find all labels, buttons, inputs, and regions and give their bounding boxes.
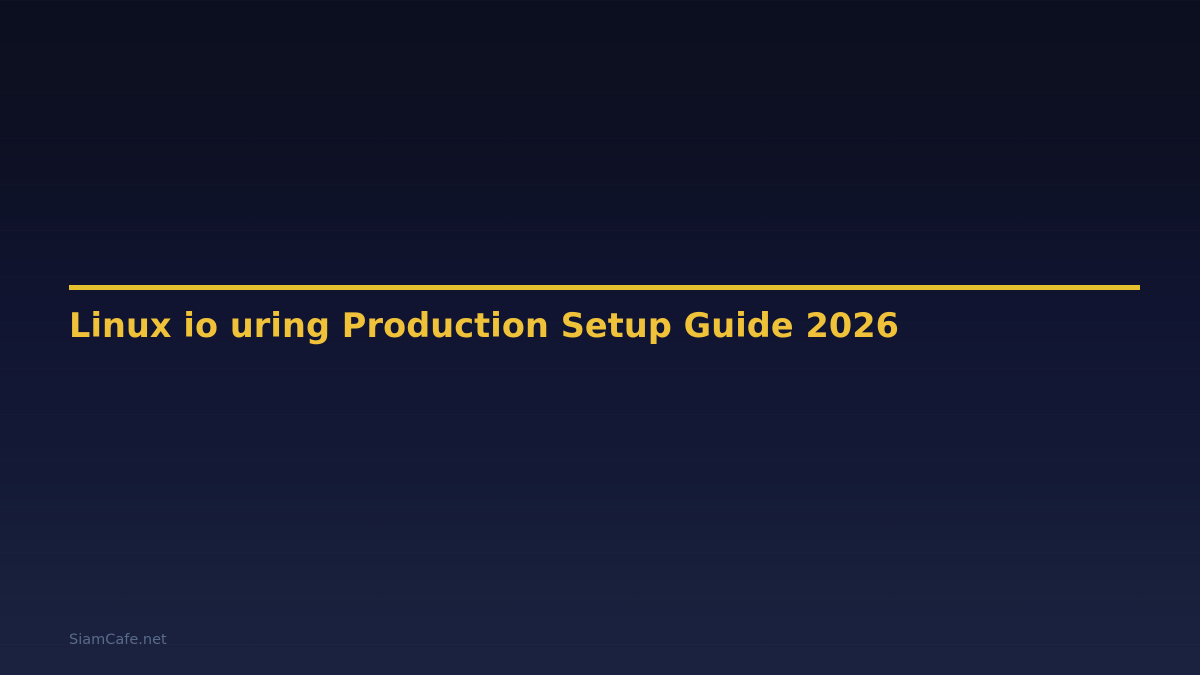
- accent-rule: [69, 285, 1140, 290]
- page-title: Linux io uring Production Setup Guide 20…: [69, 306, 899, 346]
- title-slide: Linux io uring Production Setup Guide 20…: [0, 0, 1200, 675]
- title-block: Linux io uring Production Setup Guide 20…: [69, 285, 1140, 290]
- footer-brand: SiamCafe.net: [69, 631, 167, 649]
